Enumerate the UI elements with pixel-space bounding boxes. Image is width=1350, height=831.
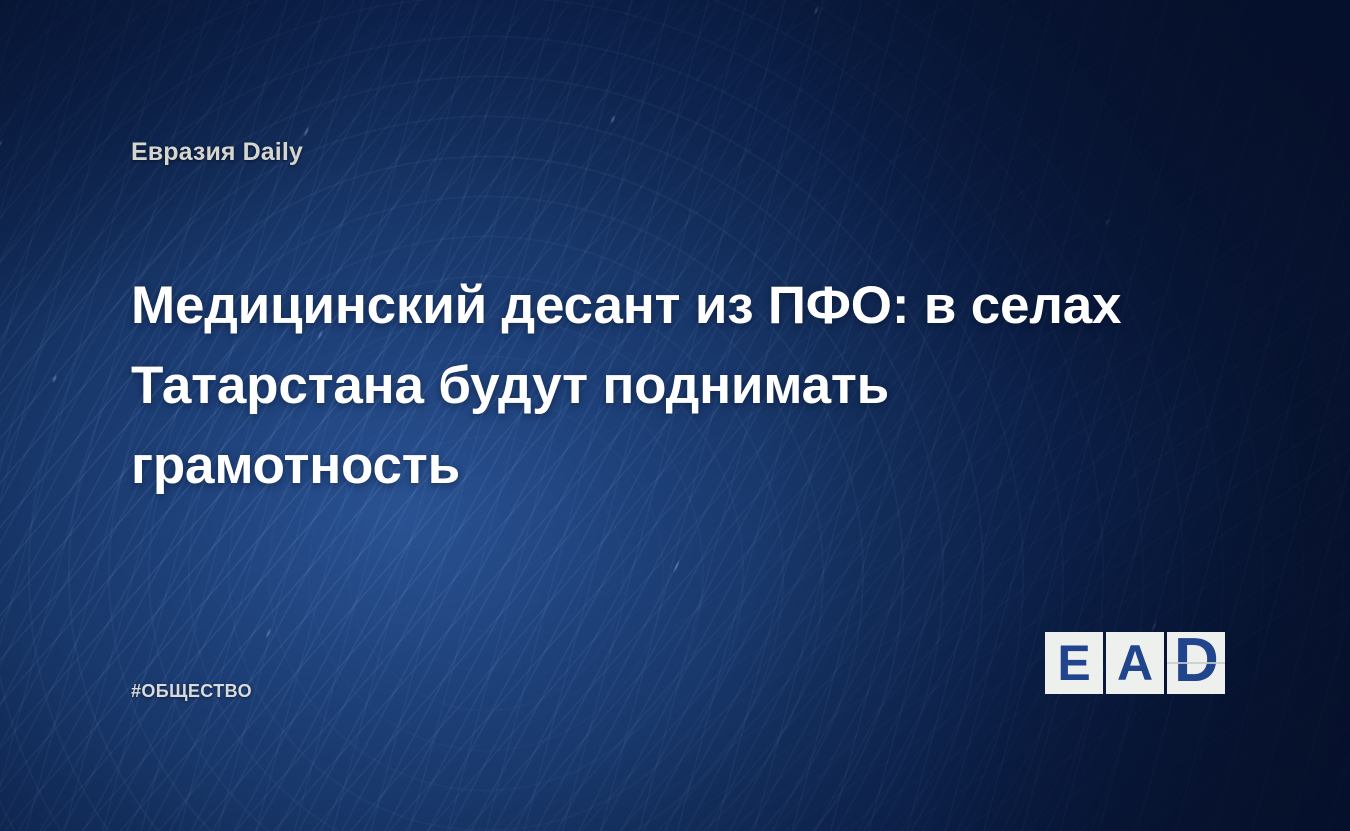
logo-letter-e: E [1057,638,1090,688]
logo-tile-seam [1167,662,1225,664]
logo-tile-d: D [1167,632,1225,694]
logo-tile-a: A [1106,632,1164,694]
news-share-card: Евразия Daily Медицинский десант из ПФО:… [0,0,1350,831]
category-tag[interactable]: #ОБЩЕСТВО [131,681,252,702]
logo-letter-a: A [1117,638,1153,688]
ead-logo[interactable]: E A D [1045,632,1225,694]
logo-tile-e: E [1045,632,1103,694]
card-content: Евразия Daily Медицинский десант из ПФО:… [0,0,1350,831]
brand-name: Евразия Daily [131,138,303,167]
headline-title: Медицинский десант из ПФО: в селах Татар… [131,266,1191,506]
